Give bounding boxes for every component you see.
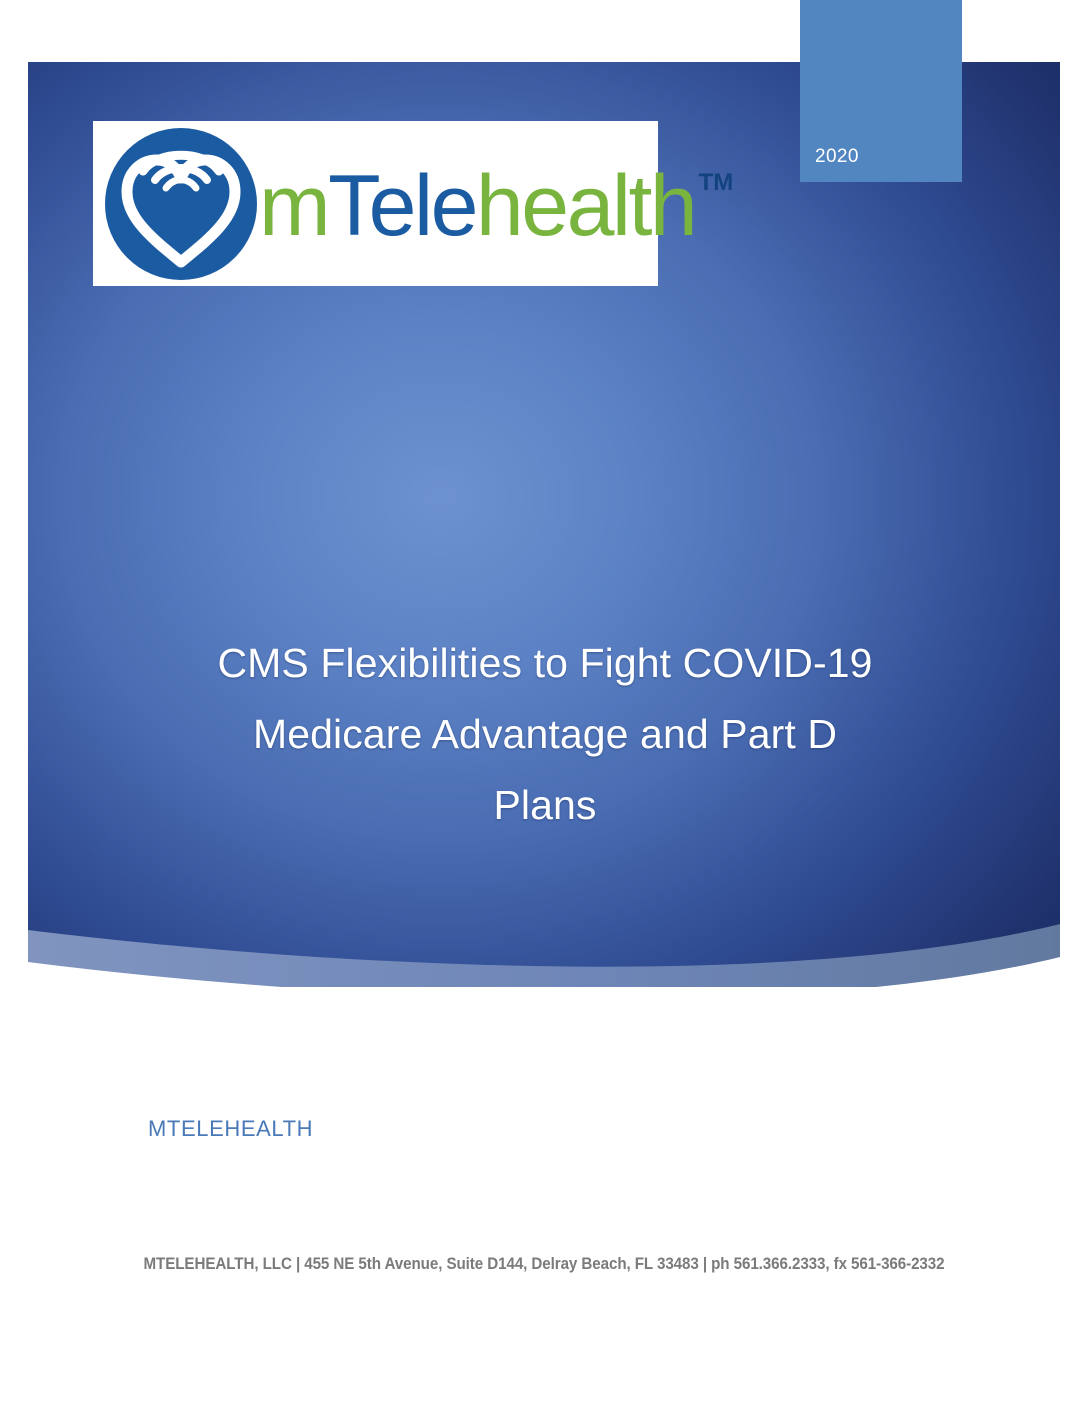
wordmark-middle: Tele	[328, 158, 476, 254]
title-line-3: Plans	[150, 770, 940, 841]
cover-title: CMS Flexibilities to Fight COVID-19 Medi…	[150, 628, 940, 841]
heart-with-wifi-signal-icon	[101, 124, 265, 284]
logo-wordmark: mTelehealthTM	[259, 163, 695, 249]
cover-subtitle: MTELEHEALTH	[148, 1118, 313, 1140]
cover-footer-address: MTELEHEALTH, LLC | 455 NE 5th Avenue, Su…	[44, 1255, 1045, 1274]
logo-container: mTelehealthTM	[93, 121, 658, 286]
year-badge: 2020	[800, 0, 962, 182]
title-line-1: CMS Flexibilities to Fight COVID-19	[150, 628, 940, 699]
trademark-symbol: TM	[699, 171, 734, 195]
title-line-2: Medicare Advantage and Part D	[150, 699, 940, 770]
cover-page: 2020 mTelehealthTM CMS	[0, 0, 1088, 1408]
wordmark-suffix: health	[476, 158, 695, 254]
wordmark-prefix: m	[259, 158, 328, 254]
year-badge-label: 2020	[815, 147, 859, 166]
